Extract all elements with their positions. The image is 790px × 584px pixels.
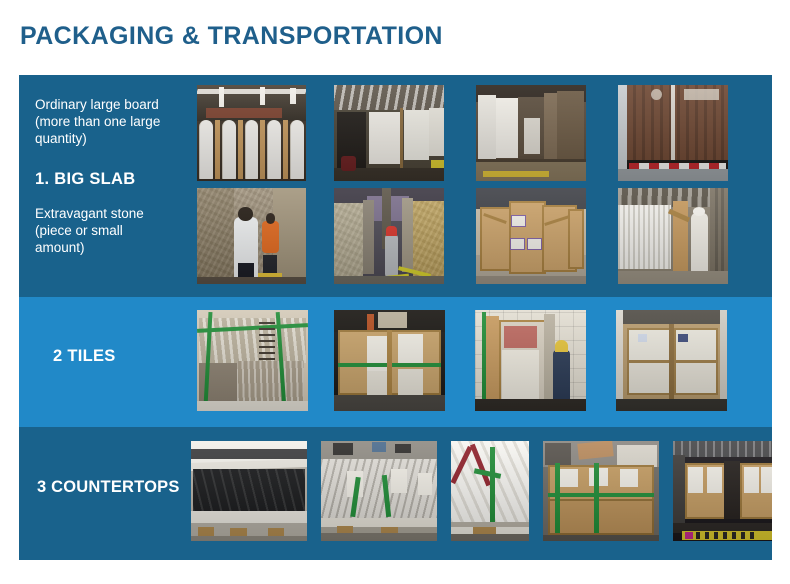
big-slab-label-column: Ordinary large board (more than one larg… bbox=[19, 75, 177, 297]
photo-white-slabs-warehouse bbox=[197, 85, 306, 181]
photo-wooden-crates-slabs bbox=[476, 188, 586, 284]
big-slab-description-top: Ordinary large board (more than one larg… bbox=[35, 96, 171, 147]
photo-strapped-tile-pallet bbox=[197, 310, 308, 411]
tiles-row-1 bbox=[177, 310, 772, 411]
photo-worker-between-slab-bundles bbox=[334, 188, 444, 284]
countertops-row-1 bbox=[177, 441, 772, 541]
photo-wooden-tile-crates-pallet bbox=[334, 310, 445, 411]
photo-crate-being-lifted bbox=[475, 310, 586, 411]
photo-worker-loading-crate-container bbox=[618, 188, 728, 284]
section-big-slab: Ordinary large board (more than one larg… bbox=[19, 75, 772, 297]
photo-grey-countertop-bundle bbox=[321, 441, 437, 541]
section-countertops: 3 COUNTERTOPS bbox=[19, 427, 772, 560]
photo-closed-container-truck bbox=[618, 85, 728, 181]
page-title: PACKAGING & TRANSPORTATION bbox=[20, 22, 443, 51]
photo-countertop-crates-in-container bbox=[673, 441, 772, 541]
big-slab-row-1 bbox=[177, 85, 772, 181]
countertops-heading: 3 COUNTERTOPS bbox=[37, 478, 180, 497]
tiles-heading: 2 TILES bbox=[53, 347, 116, 366]
photo-black-countertop-bundle bbox=[191, 441, 307, 541]
countertops-image-column bbox=[177, 427, 772, 560]
tiles-label-column: 2 TILES bbox=[19, 297, 177, 427]
packaging-panel: Ordinary large board (more than one larg… bbox=[19, 75, 772, 560]
section-tiles: 2 TILES bbox=[19, 297, 772, 427]
big-slab-heading: 1. BIG SLAB bbox=[35, 170, 135, 189]
big-slab-description-bottom: Extravagant stone (piece or small amount… bbox=[35, 205, 171, 256]
big-slab-image-column bbox=[177, 75, 772, 297]
photo-wooden-countertop-crates bbox=[543, 441, 659, 541]
tiles-image-column bbox=[177, 297, 772, 427]
photo-white-wrapped-bundle-straps bbox=[451, 441, 529, 541]
photo-workers-inspecting-granite bbox=[197, 188, 306, 284]
photo-container-full-of-crates bbox=[616, 310, 727, 411]
big-slab-row-2 bbox=[177, 188, 772, 284]
photo-slabs-inside-container bbox=[476, 85, 586, 181]
countertops-label-column: 3 COUNTERTOPS bbox=[19, 427, 177, 560]
photo-slabs-loading-container bbox=[334, 85, 444, 181]
